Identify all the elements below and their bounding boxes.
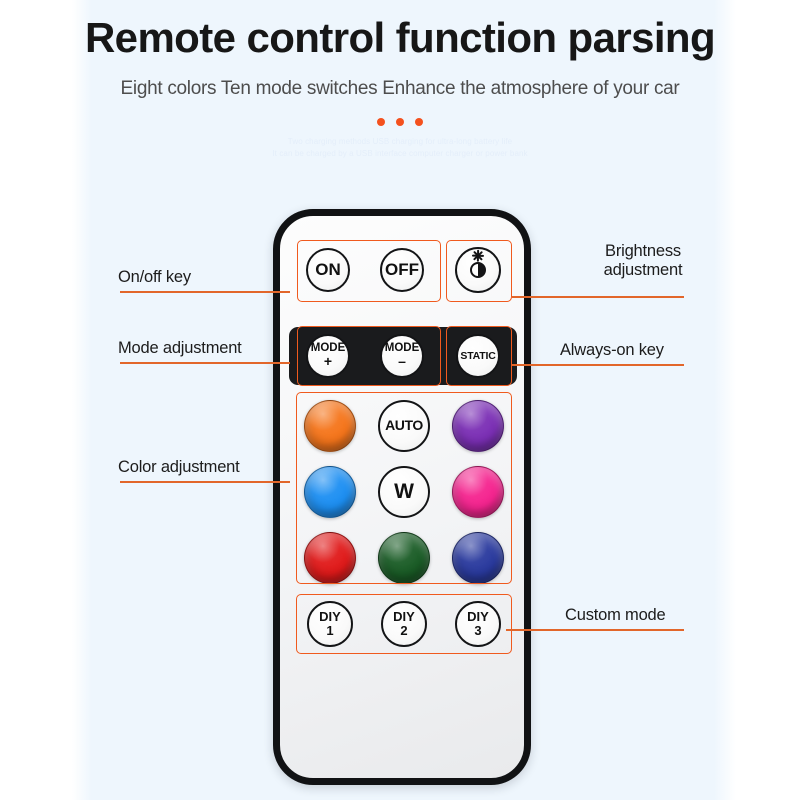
key-auto-label: AUTO [385, 419, 423, 433]
page-title: Remote control function parsing [0, 14, 800, 62]
key-mode-minus[interactable]: MODE – [380, 334, 424, 378]
key-color-blue[interactable] [304, 466, 356, 518]
lead-line-color-adjustment [120, 481, 290, 483]
sun-core [470, 262, 486, 278]
lead-line-mode-adjustment [120, 362, 290, 364]
fineprint-line-2: It can be charged by a USB interface com… [0, 148, 800, 160]
key-diy-3[interactable]: DIY3 [455, 601, 501, 647]
separator-dot [377, 118, 385, 126]
callout-color-adjustment: Color adjustment [118, 458, 240, 477]
key-white-label: W [394, 482, 414, 503]
key-auto[interactable]: AUTO [378, 400, 430, 452]
separator-dot [415, 118, 423, 126]
fineprint-line-1: Two charging methods USB charging for ul… [0, 136, 800, 148]
key-white[interactable]: W [378, 466, 430, 518]
callout-brightness-line-1: Brightness [578, 242, 708, 261]
fineprint-block: Two charging methods USB charging for ul… [0, 136, 800, 160]
key-brightness[interactable] [455, 247, 501, 293]
callout-on-off-key: On/off key [118, 268, 191, 287]
page-subtitle: Eight colors Ten mode switches Enhance t… [0, 78, 800, 100]
key-diy-3-number: 3 [474, 625, 481, 638]
callout-custom-mode: Custom mode [565, 606, 666, 625]
key-off[interactable]: OFF [380, 248, 424, 292]
key-diy-1-number: 1 [326, 625, 333, 638]
key-color-red[interactable] [304, 532, 356, 584]
key-diy-3-label: DIY [467, 611, 489, 624]
key-mode-plus[interactable]: MODE + [306, 334, 350, 378]
key-diy-2-label: DIY [393, 611, 415, 624]
lead-line-always-on-key [512, 364, 684, 366]
key-on-label: ON [315, 262, 341, 279]
lead-line-custom-mode [506, 629, 684, 631]
key-off-label: OFF [385, 262, 419, 279]
separator-dot [396, 118, 404, 126]
key-on[interactable]: ON [306, 248, 350, 292]
key-diy-1[interactable]: DIY1 [307, 601, 353, 647]
key-mode-minus-sign: – [398, 355, 406, 369]
dots-separator [0, 118, 800, 126]
callout-always-on-key: Always-on key [560, 341, 664, 360]
key-color-orange[interactable] [304, 400, 356, 452]
key-mode-plus-sign: + [324, 355, 332, 369]
callout-brightness-adjustment: Brightness adjustment [578, 242, 708, 280]
key-color-purple[interactable] [452, 400, 504, 452]
key-diy-2-number: 2 [400, 625, 407, 638]
remote-control-body: ON OFF MODE + MODE – [273, 209, 531, 785]
header: Remote control function parsing Eight co… [0, 0, 800, 160]
key-static-label: STATIC [460, 351, 495, 361]
callout-brightness-line-2: adjustment [578, 261, 708, 280]
callout-mode-adjustment: Mode adjustment [118, 339, 242, 358]
lead-line-on-off-key [120, 291, 290, 293]
key-color-pink[interactable] [452, 466, 504, 518]
brightness-sun-icon [461, 253, 495, 287]
key-static[interactable]: STATIC [456, 334, 500, 378]
key-diy-1-label: DIY [319, 611, 341, 624]
key-color-dark-blue[interactable] [452, 532, 504, 584]
key-diy-2[interactable]: DIY2 [381, 601, 427, 647]
key-color-green[interactable] [378, 532, 430, 584]
screenshot-root: Remote control function parsing Eight co… [0, 0, 800, 800]
lead-line-brightness-adjustment [512, 296, 684, 298]
